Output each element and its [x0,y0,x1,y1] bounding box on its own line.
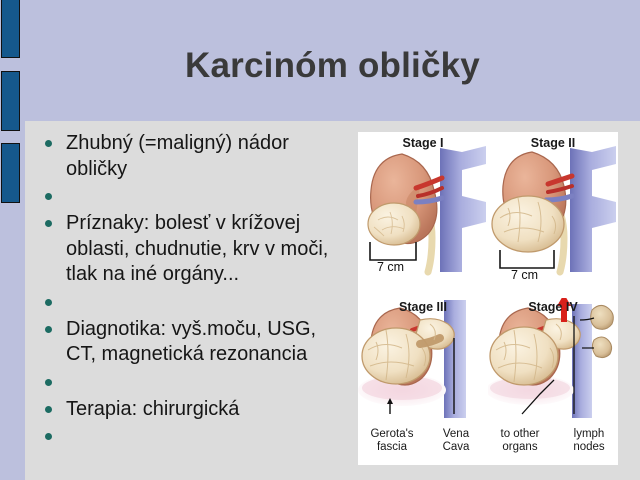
bullet-dot-icon [45,326,52,333]
list-item: Terapia: chirurgická [45,397,350,423]
stage-3-illustration [358,298,488,428]
decoration-bar-3 [1,143,20,203]
bullet-dot-icon [45,299,52,306]
list-item: Diagnotika: vyš.moču, USG, CT, magnetick… [45,317,350,368]
bullet-dot-icon [45,140,52,147]
stage-1-cell: Stage I [358,132,488,298]
list-item-label: Zhubný (=maligný) nádor obličky [66,131,350,182]
stage-3-label: Stage III [358,300,488,314]
list-item: Zhubný (=maligný) nádor obličky [45,131,350,182]
list-item-label: Diagnotika: vyš.moču, USG, CT, magnetick… [66,317,350,368]
vena-cava-caption: Vena Cava [428,428,484,454]
bullet-list: Zhubný (=maligný) nádor obličky Príznaky… [45,131,350,451]
bullet-dot-icon [45,406,52,413]
bullet-dot-icon [45,193,52,200]
decoration-bar-1 [1,0,20,58]
list-item-label: Terapia: chirurgická [66,397,350,423]
stage-4-illustration [488,298,618,428]
kidney-cancer-staging-figure: Stage I [358,132,618,465]
list-item-label [66,370,350,395]
page-title: Karcinóm obličky [25,44,640,88]
list-item-label [66,424,350,449]
list-item [45,290,350,315]
decoration-bar-2 [1,71,20,131]
stage-1-measure-label: 7 cm [377,260,404,274]
stage-2-illustration [488,132,618,282]
slide: Karcinóm obličky Zhubný (=maligný) nádor… [0,0,640,480]
stage-2-cell: Stage II 7 cm [488,132,618,298]
bullet-dot-icon [45,220,52,227]
list-item [45,370,350,395]
stage-2-measure-label: 7 cm [511,268,538,282]
stage-3-cell: Stage III [358,298,488,464]
gerotas-fascia-caption: Gerota's fascia [356,428,428,454]
to-other-organs-caption: to other organs [482,428,558,454]
list-item-label: Príznaky: bolesť v krížovej oblasti, chu… [66,211,350,288]
list-item [45,184,350,209]
stage-2-label: Stage II [488,136,618,150]
list-item: Príznaky: bolesť v krížovej oblasti, chu… [45,211,350,288]
stage-4-cell: Stage IV [488,298,618,464]
stage-4-label: Stage IV [488,300,618,314]
list-item-label [66,184,350,209]
list-item-label [66,290,350,315]
list-item [45,424,350,449]
stage-1-label: Stage I [358,136,488,150]
bullet-dot-icon [45,379,52,386]
bullet-dot-icon [45,433,52,440]
lymph-nodes-caption: lymph nodes [558,428,620,454]
